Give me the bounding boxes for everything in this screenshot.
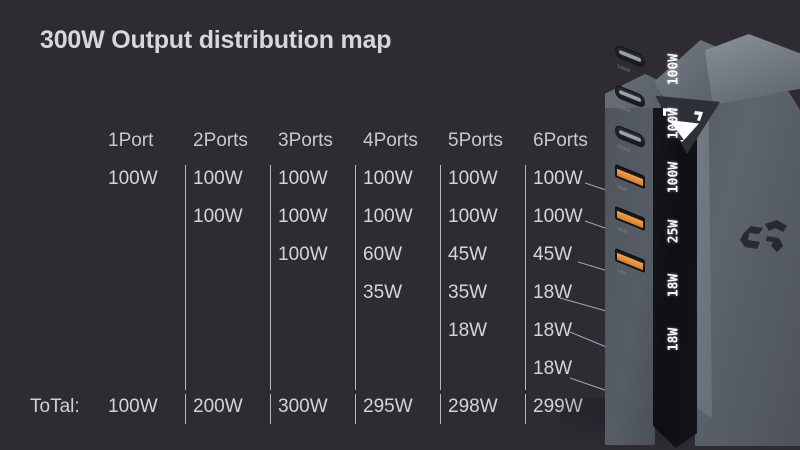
table-cell: 100W xyxy=(278,165,360,203)
total-divider xyxy=(525,394,526,424)
column-header: 5Ports xyxy=(448,130,530,165)
table-cell: 100W xyxy=(193,203,275,241)
brand-mark-icon xyxy=(737,216,789,262)
led-readout: 100W xyxy=(667,161,682,195)
table-cell xyxy=(448,355,530,393)
table-cell: 45W xyxy=(448,241,530,279)
table-cell xyxy=(363,317,445,355)
total-value: 298W xyxy=(448,396,498,418)
led-readout: 100W xyxy=(667,53,682,87)
table-cell: 100W xyxy=(448,165,530,203)
table-cell: 100W xyxy=(363,203,445,241)
table-cell xyxy=(108,355,190,393)
table-cell xyxy=(193,241,275,279)
table-cell: 100W xyxy=(193,165,275,203)
table-cell: 60W xyxy=(363,241,445,279)
led-readout: 18W xyxy=(667,323,682,357)
column-header: 3Ports xyxy=(278,130,360,165)
table-column-5ports: 5Ports 100W 100W 45W 35W 18W xyxy=(448,130,530,393)
table-cell: 100W xyxy=(448,203,530,241)
column-header: 2Ports xyxy=(193,130,275,165)
table-cell xyxy=(278,317,360,355)
page-title: 300W Output distribution map xyxy=(40,26,391,55)
table-cell: 35W xyxy=(363,279,445,317)
total-divider xyxy=(440,394,441,424)
table-cell xyxy=(108,241,190,279)
led-readout: 100W xyxy=(667,107,682,141)
table-cell: 100W xyxy=(278,241,360,279)
total-divider xyxy=(270,394,271,424)
table-cell: 100W xyxy=(108,165,190,203)
table-cell xyxy=(363,355,445,393)
table-cell xyxy=(193,279,275,317)
total-divider xyxy=(185,394,186,424)
total-row: ToTal: 100W 200W 300W 295W 298W 299W xyxy=(30,394,610,424)
distribution-table: 1Port 100W 2Ports 100W 100W 3Ports 100W … xyxy=(108,130,608,420)
column-header: 1Port xyxy=(108,130,190,165)
charger-device: 100W 100W 100W 25W 18W 18W 100W 100W 100… xyxy=(595,28,800,450)
table-cell xyxy=(108,203,190,241)
total-value: 300W xyxy=(278,396,328,418)
table-cell xyxy=(108,317,190,355)
table-column-4ports: 4Ports 100W 100W 60W 35W xyxy=(363,130,445,393)
total-value: 100W xyxy=(108,396,158,418)
total-value: 295W xyxy=(363,396,413,418)
port-label: 100W xyxy=(617,63,630,74)
table-cell: 18W xyxy=(448,317,530,355)
total-label: ToTal: xyxy=(30,396,80,418)
total-divider xyxy=(355,394,356,424)
table-cell: 35W xyxy=(448,279,530,317)
table-cell xyxy=(278,355,360,393)
table-cell: 100W xyxy=(278,203,360,241)
table-cell xyxy=(108,279,190,317)
table-column-3ports: 3Ports 100W 100W 100W xyxy=(278,130,360,393)
led-readout: 25W xyxy=(667,215,682,249)
table-cell: 100W xyxy=(363,165,445,203)
table-column-1port: 1Port 100W xyxy=(108,130,190,393)
table-cell xyxy=(193,355,275,393)
led-readout: 18W xyxy=(667,269,682,303)
table-cell xyxy=(278,279,360,317)
table-column-2ports: 2Ports 100W 100W xyxy=(193,130,275,393)
table-cell xyxy=(193,317,275,355)
column-header: 4Ports xyxy=(363,130,445,165)
total-value: 200W xyxy=(193,396,243,418)
